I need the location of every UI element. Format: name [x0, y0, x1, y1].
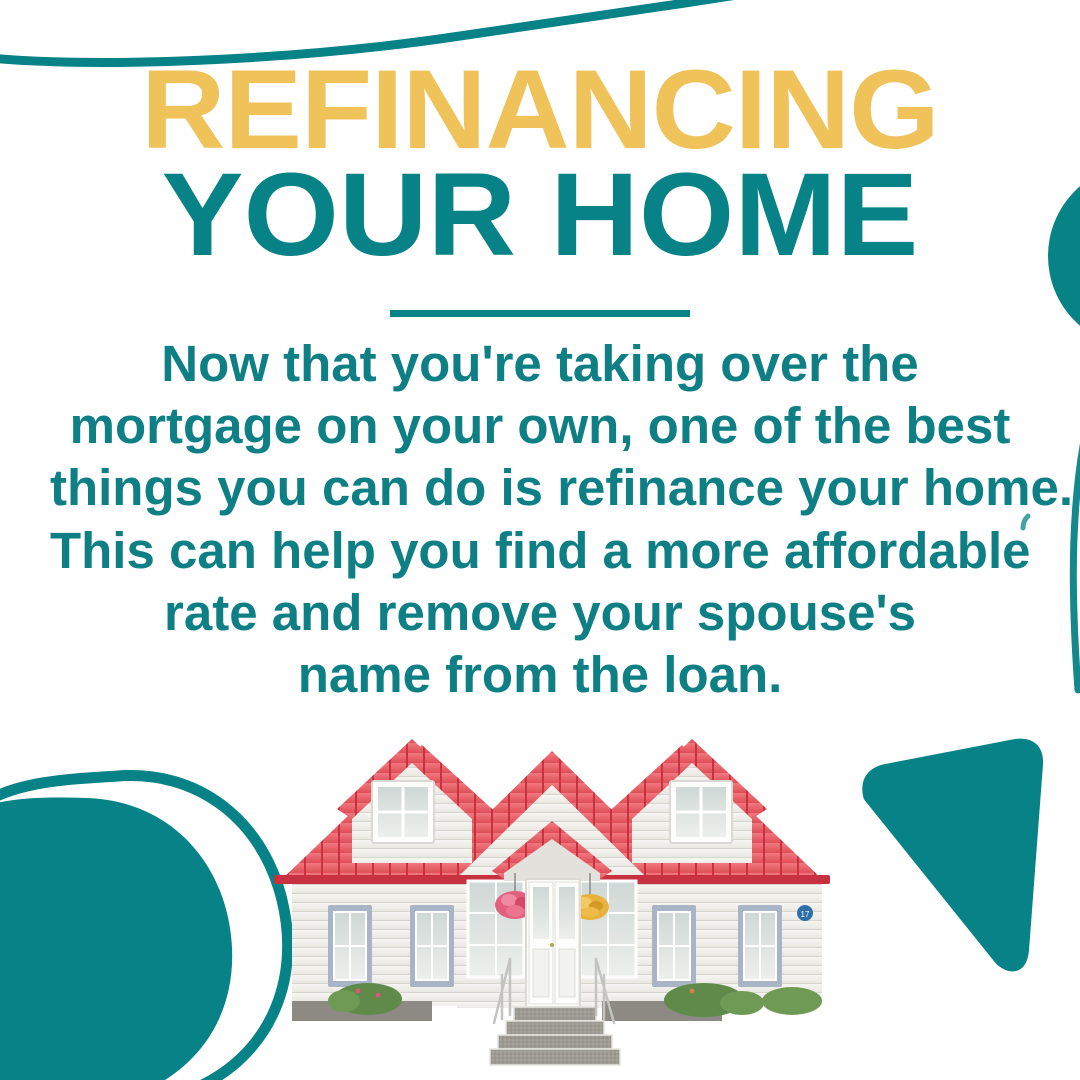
shrub-far-right [762, 987, 822, 1015]
bottom-left-ring-icon [0, 775, 288, 1080]
body-line: mortgage on your own, one of the best [50, 395, 1030, 457]
headline-line-1: REFINANCING [0, 58, 1080, 161]
body-line: things you can do is refinance your home… [50, 457, 1030, 519]
body-line: Now that you're taking over the [50, 333, 1030, 395]
page-title: REFINANCING YOUR HOME [0, 58, 1080, 270]
body-line: rate and remove your spouse's [50, 582, 1030, 644]
bottom-right-triangle-icon [871, 748, 1034, 963]
refinancing-poster: REFINANCING YOUR HOME Now that you're ta… [0, 0, 1080, 1080]
door-handle-icon [550, 943, 554, 947]
body-line: This can help you find a more affordable [50, 520, 1030, 582]
house-photo: 17 [272, 723, 832, 1080]
step-2 [498, 1035, 612, 1049]
house-number-text: 17 [801, 910, 810, 919]
front-door-left-glass [533, 887, 549, 939]
bottom-left-blob-icon [0, 797, 232, 1080]
title-divider [390, 310, 690, 317]
body-paragraph: Now that you're taking over the mortgage… [50, 333, 1030, 706]
headline-line-2: YOUR HOME [0, 161, 1080, 270]
front-door-left-panel [533, 949, 549, 997]
right-edge-arc-icon [1073, 430, 1080, 690]
body-line: name from the loan. [50, 644, 1030, 706]
front-door-right-glass [559, 887, 575, 939]
step-3 [506, 1021, 604, 1035]
front-door-right-panel [559, 949, 575, 997]
step-4 [514, 1007, 596, 1021]
step-1 [490, 1049, 620, 1065]
